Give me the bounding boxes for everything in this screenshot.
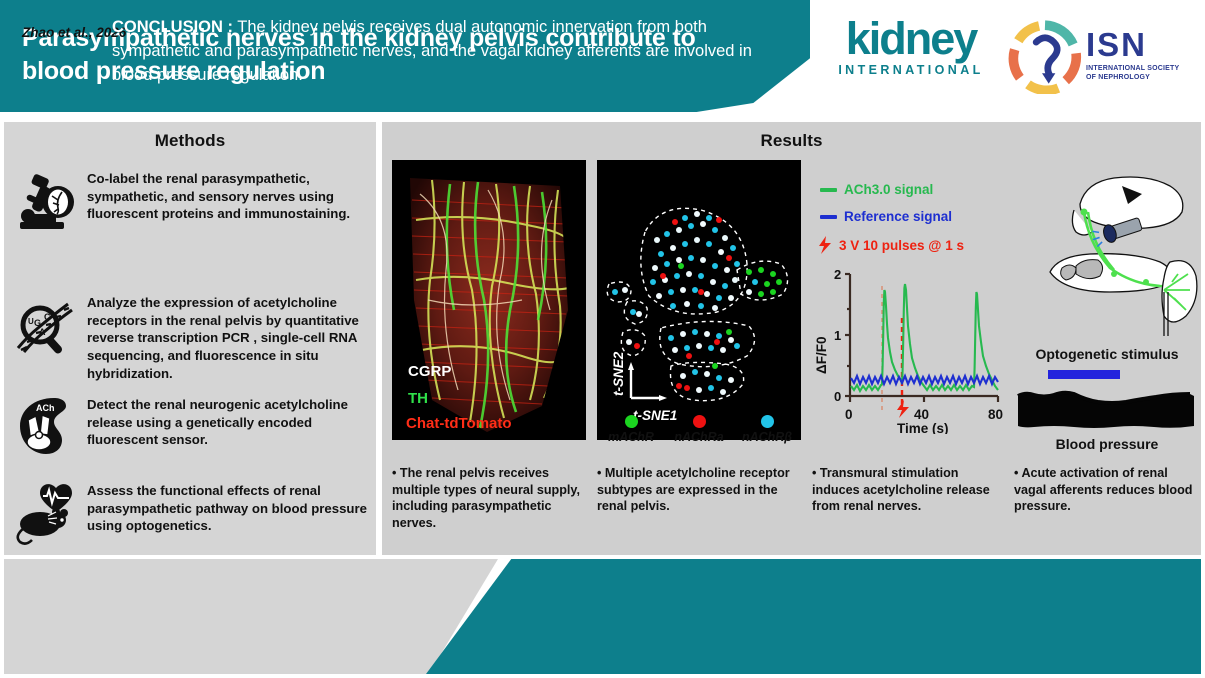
- mouse-heart-ecg-icon: [12, 480, 78, 546]
- ach-line-icon: [820, 188, 837, 192]
- svg-text:0: 0: [845, 407, 853, 422]
- journal-subtitle: INTERNATIONAL: [818, 63, 1004, 77]
- method-item-3: ACh Detect the renal neurogenic acetylch…: [12, 394, 372, 460]
- tsne-legend-item-nachrb: nAChRβ: [733, 415, 801, 444]
- kidney-international-logo: kidney INTERNATIONAL: [818, 18, 1004, 77]
- isn-subtitle-1: INTERNATIONAL SOCIETY: [1086, 64, 1179, 73]
- svg-text:C: C: [44, 312, 51, 322]
- svg-text:80: 80: [988, 407, 1003, 422]
- conclusion-banner: [426, 559, 1201, 674]
- blood-pressure-label: Blood pressure: [1014, 436, 1200, 452]
- magnifier-rna-icon: C G U A: [12, 292, 78, 358]
- svg-text:40: 40: [914, 407, 929, 422]
- result-caption-3: • Transmural stimulation induces acetylc…: [812, 465, 1008, 515]
- method-text-2: Analyze the expression of acetylcholine …: [87, 292, 372, 382]
- optogenetic-stimulus-label: Optogenetic stimulus: [1014, 346, 1200, 362]
- trace-legend-item-reference: Reference signal: [820, 209, 952, 224]
- nachra-dot-icon: [693, 415, 706, 428]
- trace-legend-label-3: 3 V 10 pulses @ 1 s: [839, 238, 964, 253]
- tsne-legend-label-2: nAChRa: [665, 430, 733, 444]
- wholemount-image: CGRP TH Chat-tdTomato: [392, 160, 586, 440]
- tsne-legend-label-3: nAChRβ: [733, 430, 801, 444]
- tsne-scatter: t-SNE2 t-SNE1: [597, 160, 801, 440]
- reference-line-icon: [820, 215, 837, 219]
- result-caption-1: • The renal pelvis receives multiple typ…: [392, 465, 588, 532]
- tsne-plot: t-SNE2 t-SNE1: [597, 160, 801, 440]
- tsne-legend: mAChR nAChRa nAChRβ: [597, 415, 801, 444]
- trace-legend-label-2: Reference signal: [844, 209, 952, 224]
- machr-dot-icon: [625, 415, 638, 428]
- result-panel-wholemount: CGRP TH Chat-tdTomato • The renal pelvis…: [392, 160, 586, 440]
- svg-text:ΔF/F0: ΔF/F0: [814, 337, 829, 374]
- tsne-legend-label-1: mAChR: [597, 430, 665, 444]
- svg-text:A: A: [39, 327, 46, 337]
- method-text-4: Assess the functional effects of renal p…: [87, 480, 372, 535]
- trace-legend-item-ach: ACh3.0 signal: [820, 182, 933, 197]
- svg-text:2: 2: [834, 267, 841, 282]
- microscope-kidney-icon: [12, 168, 78, 234]
- optogenetics-schematic: [1014, 170, 1200, 350]
- nachrb-dot-icon: [761, 415, 774, 428]
- results-heading: Results: [382, 122, 1201, 151]
- result-caption-2: • Multiple acetylcholine receptor subtyp…: [597, 465, 797, 515]
- blood-pressure-trace: [1014, 382, 1200, 434]
- result-panel-optogenetics: Optogenetic stimulus Blood pressure • Ac…: [1014, 170, 1200, 355]
- conclusion-block: CONCLUSION : The kidney pelvis receives …: [112, 16, 757, 88]
- svg-text:0: 0: [834, 389, 841, 404]
- citation-box: [4, 559, 498, 674]
- svg-text:CGRP: CGRP: [408, 363, 451, 380]
- trace-legend-label-1: ACh3.0 signal: [844, 182, 933, 197]
- ach-trace-chart: 2 1 0 ΔF/F0 0 40 80 Time (s): [812, 266, 1008, 434]
- isn-logo: ISN INTERNATIONAL SOCIETY OF NEPHROLOGY: [1008, 16, 1204, 98]
- journal-name: kidney: [818, 18, 1004, 61]
- result-panel-tsne: t-SNE2 t-SNE1 • Multiple acetylcholine r…: [597, 160, 801, 440]
- method-text-3: Detect the renal neurogenic acetylcholin…: [87, 394, 372, 449]
- conclusion-label: CONCLUSION :: [112, 18, 233, 36]
- methods-panel: Methods Co-label the renal parasympathet…: [4, 122, 376, 555]
- svg-text:U: U: [28, 317, 34, 326]
- method-item-2: C G U A Analyze the expression of acetyl…: [12, 292, 372, 382]
- trace-legend-item-stimulus: 3 V 10 pulses @ 1 s: [818, 236, 964, 254]
- methods-heading: Methods: [4, 122, 376, 151]
- svg-text:1: 1: [834, 328, 841, 343]
- tsne-legend-item-nachra: nAChRa: [665, 415, 733, 444]
- tsne-legend-item-machr: mAChR: [597, 415, 665, 444]
- svg-text:Time (s): Time (s): [897, 421, 949, 434]
- svg-text:ACh: ACh: [36, 403, 55, 413]
- isn-text-block: ISN INTERNATIONAL SOCIETY OF NEPHROLOGY: [1086, 28, 1179, 83]
- method-text-1: Co-label the renal parasympathetic, symp…: [87, 168, 372, 223]
- svg-text:t-SNE2: t-SNE2: [611, 351, 626, 396]
- isn-ring-icon: [1008, 20, 1082, 94]
- method-item-1: Co-label the renal parasympathetic, symp…: [12, 168, 372, 234]
- svg-text:Chat-tdTomato: Chat-tdTomato: [406, 415, 512, 432]
- method-item-4: Assess the functional effects of renal p…: [12, 480, 372, 546]
- bolt-icon: [818, 236, 832, 254]
- isn-abbr: ISN: [1086, 28, 1179, 61]
- kidney-ach-sensor-icon: ACh: [12, 394, 78, 460]
- citation: Zhao et al., 2026: [22, 25, 126, 40]
- result-caption-4: • Acute activation of renal vagal affere…: [1014, 465, 1200, 515]
- logo-zone: kidney INTERNATIONAL ISN INTERNATIONAL S…: [812, 0, 1205, 112]
- svg-text:TH: TH: [408, 390, 428, 407]
- isn-subtitle-2: OF NEPHROLOGY: [1086, 73, 1179, 82]
- optogenetic-stimulus-bar: [1048, 370, 1120, 379]
